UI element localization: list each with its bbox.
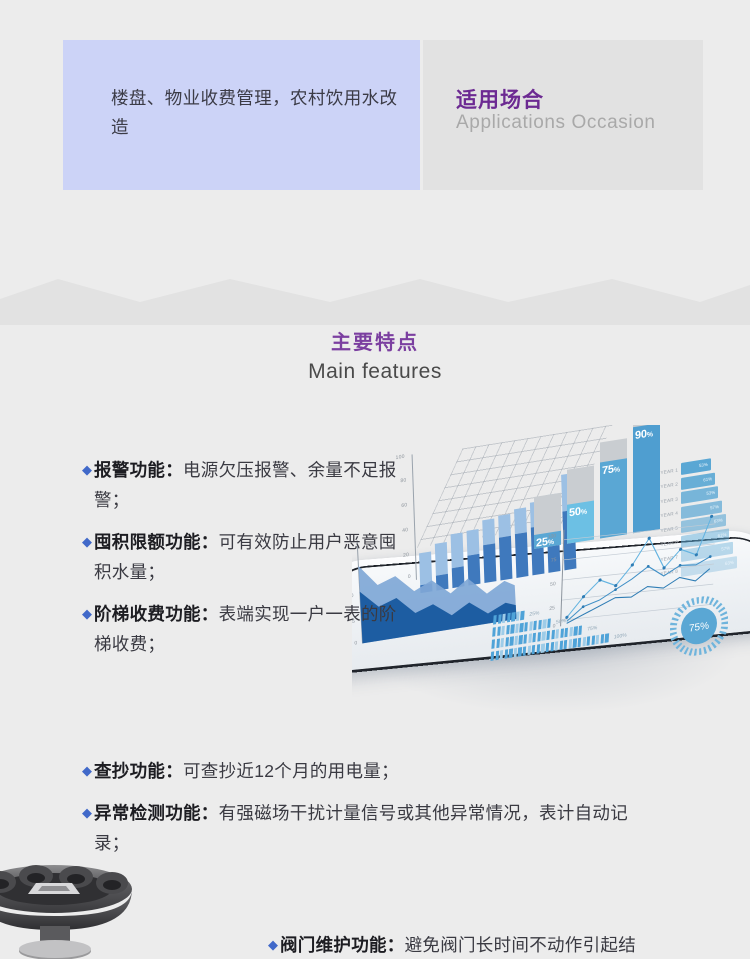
chart-gauge: 75% [670, 592, 728, 659]
page-root: 楼盘、物业收费管理，农村饮用水改造 适用场合 Applications Occa… [0, 0, 750, 959]
feature-text: 异常检测功能：有强磁场干扰计量信号或其他异常情况，表计自动记录； [94, 798, 642, 858]
chart-gauge-svg: 75% [670, 592, 728, 659]
diamond-bullet-icon: ◆ [268, 930, 278, 959]
applications-band: 楼盘、物业收费管理，农村饮用水改造 适用场合 Applications Occa… [0, 40, 750, 190]
main-features-heading-cn: 主要特点 [0, 330, 750, 356]
feature-title: 阀门维护功能： [280, 935, 405, 955]
main-features-heading-en: Main features [0, 356, 750, 388]
applications-title-panel: 适用场合 Applications Occasion [423, 40, 703, 190]
feature-list-bottom: ◆ 阀门维护功能：避免阀门长时间不动作引起结 [268, 930, 748, 959]
svg-text:50: 50 [550, 581, 556, 588]
list-item: ◆ 异常检测功能：有强磁场干扰计量信号或其他异常情况，表计自动记录； [82, 798, 642, 858]
list-item: ◆ 报警功能：电源欠压报警、余量不足报警； [82, 455, 412, 515]
feature-text: 查抄功能：可查抄近12个月的用电量； [94, 756, 399, 786]
diamond-bullet-icon: ◆ [82, 527, 92, 557]
applications-body-text: 楼盘、物业收费管理，农村饮用水改造 [111, 84, 411, 142]
feature-title: 异常检测功能： [94, 803, 219, 823]
svg-text:75: 75 [551, 557, 557, 564]
diamond-bullet-icon: ◆ [82, 599, 92, 629]
feature-title: 阶梯收费功能： [94, 604, 219, 624]
diamond-bullet-icon: ◆ [82, 798, 92, 828]
applications-title-en: Applications Occasion [456, 112, 656, 134]
feature-title: 囤积限额功能： [94, 532, 219, 552]
feature-text: 阶梯收费功能：表端实现一户一表的阶梯收费； [94, 599, 412, 659]
applications-text-panel: 楼盘、物业收费管理，农村饮用水改造 [63, 40, 420, 190]
feature-text: 阀门维护功能：避免阀门长时间不动作引起结 [280, 930, 636, 959]
valve-handwheel-svg [0, 856, 184, 959]
feature-body: 可查抄近12个月的用电量； [183, 761, 399, 781]
applications-title-cn: 适用场合 [456, 84, 544, 114]
zigzag-divider [0, 255, 750, 325]
diamond-bullet-icon: ◆ [82, 455, 92, 485]
feature-title: 查抄功能： [94, 761, 183, 781]
svg-text:100: 100 [548, 533, 557, 540]
list-item: ◆ 阀门维护功能：避免阀门长时间不动作引起结 [268, 930, 748, 959]
list-item: ◆ 查抄功能：可查抄近12个月的用电量； [82, 756, 642, 786]
feature-body: 避免阀门长时间不动作引起结 [405, 935, 636, 955]
valve-handwheel-image [0, 856, 184, 959]
feature-list-middle: ◆ 查抄功能：可查抄近12个月的用电量； ◆ 异常检测功能：有强磁场干扰计量信号… [82, 756, 642, 870]
list-item: ◆ 囤积限额功能：可有效防止用户恶意囤积水量； [82, 527, 412, 587]
zigzag-shape [0, 255, 750, 325]
feature-title: 报警功能： [94, 460, 183, 480]
feature-text: 报警功能：电源欠压报警、余量不足报警； [94, 455, 412, 515]
main-features-heading: 主要特点 Main features [0, 330, 750, 388]
list-item: ◆ 阶梯收费功能：表端实现一户一表的阶梯收费； [82, 599, 412, 659]
diamond-bullet-icon: ◆ [82, 756, 92, 786]
feature-list-top: ◆ 报警功能：电源欠压报警、余量不足报警； ◆ 囤积限额功能：可有效防止用户恶意… [82, 455, 412, 671]
feature-text: 囤积限额功能：可有效防止用户恶意囤积水量； [94, 527, 412, 587]
